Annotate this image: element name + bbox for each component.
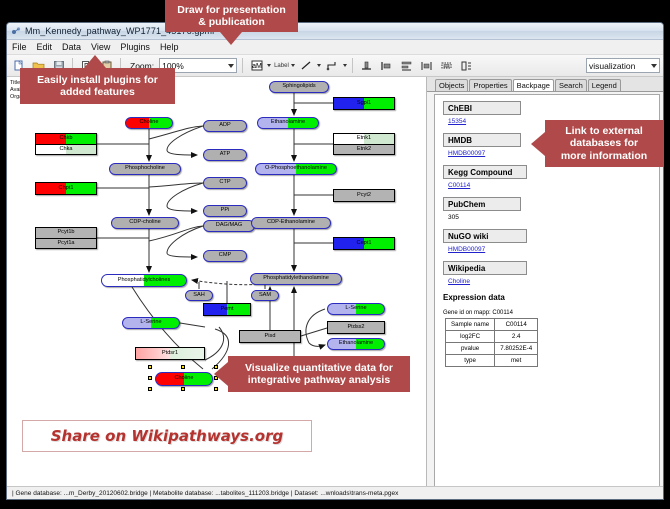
metabolite-label: Phosphatidylcholines — [118, 278, 171, 284]
stack-icon[interactable] — [458, 57, 475, 74]
resize-handle[interactable] — [181, 365, 185, 369]
callout-visualize-arrow-icon — [214, 362, 228, 386]
chevron-down-icon[interactable] — [267, 64, 271, 67]
expression-row: typemet — [446, 355, 538, 367]
tab-properties[interactable]: Properties — [469, 79, 511, 91]
share-banner-text: Share on Wikipathways.org — [51, 427, 283, 445]
metabolite-label: CTP — [219, 180, 230, 186]
callout-links-line1: Link to external — [565, 125, 643, 137]
db-link-wikipedia[interactable]: Choline — [448, 278, 659, 285]
chevron-down-icon[interactable] — [228, 64, 234, 68]
gene-label-row: Chkb — [36, 134, 96, 144]
menubar[interactable]: File Edit Data View Plugins Help — [7, 40, 663, 55]
gene-label-row: Pcyt1a — [36, 238, 96, 248]
menu-help[interactable]: Help — [159, 42, 180, 52]
menu-file[interactable]: File — [11, 42, 28, 52]
metabolite-node[interactable]: Ethanolamine — [257, 117, 319, 129]
metabolite-node[interactable]: CTP — [203, 177, 247, 189]
gene-label: Pcyt1b — [57, 230, 74, 236]
gene-node[interactable]: Pcyt1bPcyt1a — [35, 227, 97, 249]
metabolite-label: DAG/MAG — [216, 223, 242, 229]
metabolite-node[interactable]: Phosphatidylcholines — [101, 274, 187, 287]
side-panel-tabs[interactable]: ObjectsPropertiesBackpageSearchLegend — [427, 77, 663, 92]
gene-label-row: Ptdsr1 — [136, 348, 204, 359]
gene-node[interactable]: Pcyt2 — [333, 189, 395, 202]
gene-label-row: Chpt1 — [36, 183, 96, 194]
screenshot-root: Mm_Kennedy_pathway_WP1771_45176.gpml Fil… — [0, 0, 670, 509]
same-width-icon[interactable] — [418, 57, 435, 74]
resize-handle[interactable] — [214, 387, 218, 391]
metabolite-node[interactable]: CDP-Ethanolamine — [251, 217, 331, 229]
metabolite-node[interactable]: L-Serine — [122, 317, 180, 329]
gene-node[interactable]: ChkbChka — [35, 133, 97, 155]
gene-label-row: Pcyt1b — [36, 228, 96, 238]
db-header-kegg-compound: Kegg Compound — [443, 165, 527, 179]
label-tool-group[interactable]: Label — [274, 63, 295, 69]
align-top-icon[interactable] — [358, 57, 375, 74]
gene-label: Cept1 — [357, 241, 372, 247]
db-header-nugo-wiki: NuGO wiki — [443, 229, 527, 243]
resize-handle[interactable] — [181, 387, 185, 391]
metabolite-label: CMP — [219, 253, 231, 259]
metabolite-label: CDP-Ethanolamine — [267, 220, 315, 226]
gene-label: Etnk2 — [357, 147, 371, 153]
metabolite-node[interactable]: SAH — [185, 290, 213, 301]
menu-edit[interactable]: Edit — [36, 42, 54, 52]
chevron-down-icon[interactable] — [291, 64, 295, 67]
gene-node[interactable]: Etnk1Etnk2 — [333, 133, 395, 155]
metabolite-node[interactable]: ATP — [203, 149, 247, 161]
callout-links: Link to external databases for more info… — [545, 120, 663, 167]
callout-links-line2: databases for — [570, 137, 638, 149]
resize-handle[interactable] — [148, 376, 152, 380]
statusbar: | Gene database: ...m_Derby_20120602.bri… — [7, 486, 663, 499]
group-icon[interactable] — [438, 57, 455, 74]
gene-node[interactable]: Pisd — [239, 330, 301, 343]
gene-label-row: Pcyt2 — [334, 190, 394, 201]
metabolite-node[interactable]: Phosphatidylethanolamine — [250, 273, 342, 285]
gene-label: Ptdsr1 — [162, 351, 178, 357]
tab-search[interactable]: Search — [555, 79, 587, 91]
db-header-chebi: ChEBI — [443, 101, 521, 115]
gene-label: Pcyt1a — [57, 241, 74, 247]
visualization-value: visualization — [589, 61, 635, 71]
gene-label-row: Sgpl1 — [334, 98, 394, 109]
gene-label-row: Cept1 — [334, 238, 394, 249]
metabolite-node[interactable]: ADP — [203, 120, 247, 132]
gene-node[interactable]: Ptdss2 — [327, 321, 385, 334]
gene-label: Chkb — [59, 136, 72, 142]
distribute-vertical-icon[interactable] — [398, 57, 415, 74]
metabolite-label: O-Phosphoethanolamine — [265, 166, 327, 172]
db-link-nugo-wiki[interactable]: HMDB00097 — [448, 246, 659, 253]
metabolite-node[interactable]: Ethanolamine — [327, 338, 385, 350]
metabolite-node[interactable]: O-Phosphoethanolamine — [255, 163, 337, 175]
db-link-kegg-compound[interactable]: C00114 — [448, 182, 659, 189]
metabolite-label: ADP — [219, 123, 231, 129]
gene-node[interactable]: Pemt — [203, 303, 251, 316]
db-value-pubchem: 305 — [448, 214, 659, 221]
metabolite-label: SAM — [259, 293, 271, 299]
expression-key: pvalue — [446, 343, 495, 355]
gene-id-line: Gene id on mapp: C00114 — [443, 310, 659, 316]
tab-objects[interactable]: Objects — [435, 79, 468, 91]
callout-links-line3: more information — [561, 150, 647, 162]
expression-value: C00114 — [495, 319, 538, 331]
metabolite-label: CDP-choline — [129, 220, 160, 226]
callout-plugins-line2: added features — [60, 86, 135, 98]
metabolite-node[interactable]: CMP — [203, 250, 247, 262]
metabolite-label: ATP — [220, 152, 230, 158]
gene-node[interactable]: Ptdsr1 — [135, 347, 205, 360]
expression-key: type — [446, 355, 495, 367]
gene-label-row: Etnk1 — [334, 134, 394, 144]
share-banner: Share on Wikipathways.org — [22, 420, 312, 452]
expression-table: Sample nameC00114log2FC2.4pvalue7.80252E… — [445, 318, 538, 367]
metabolite-label: Sphingolipids — [282, 84, 315, 90]
gene-node[interactable]: Cept1 — [333, 237, 395, 250]
callout-draw-line1: Draw for presentation — [177, 4, 286, 16]
app-icon — [11, 26, 21, 36]
metabolite-node[interactable]: SAM — [251, 290, 279, 301]
gene-label-row: Ptdss2 — [328, 322, 384, 333]
expression-value: 2.4 — [495, 331, 538, 343]
metabolite-label: Ethanolamine — [271, 120, 305, 126]
metabolite-label: SAH — [193, 293, 205, 299]
window-titlebar: Mm_Kennedy_pathway_WP1771_45176.gpml — [7, 23, 663, 40]
menu-plugins[interactable]: Plugins — [119, 42, 151, 52]
text-tool-group[interactable]: aM — [248, 57, 271, 74]
expression-row: Sample nameC00114 — [446, 319, 538, 331]
metabolite-node[interactable]: Choline — [155, 372, 213, 386]
callout-visualize-line1: Visualize quantitative data for — [245, 362, 393, 374]
callout-draw: Draw for presentation & publication — [165, 0, 298, 32]
gene-label: Pemt — [220, 307, 233, 313]
chevron-down-icon[interactable] — [317, 64, 321, 67]
connector-tool-icon[interactable] — [324, 57, 341, 74]
metabolite-node[interactable]: Choline — [125, 117, 173, 129]
callout-links-arrow-icon — [531, 132, 545, 156]
metabolite-node[interactable]: Sphingolipids — [269, 81, 329, 93]
metabolite-label: Phosphatidylethanolamine — [263, 276, 329, 282]
metabolite-label: Phosphocholine — [125, 166, 165, 172]
metabolite-label: L-Serine — [345, 306, 366, 312]
callout-plugins-arrow-icon — [84, 55, 106, 68]
metabolite-label: Choline — [140, 120, 159, 126]
line-tool-icon[interactable] — [298, 57, 315, 74]
metabolite-label: L-Serine — [140, 320, 161, 326]
align-left-icon[interactable] — [378, 57, 395, 74]
metabolite-node[interactable]: CDP-choline — [111, 217, 179, 229]
callout-draw-arrow-icon — [220, 32, 242, 45]
metabolite-label: Choline — [175, 376, 194, 382]
gene-label: Pcyt2 — [357, 193, 371, 199]
gene-label: Sgpl1 — [357, 101, 371, 107]
callout-visualize: Visualize quantitative data for integrat… — [228, 356, 410, 392]
chevron-down-icon[interactable] — [651, 64, 657, 68]
expression-row: pvalue7.80252E-4 — [446, 343, 538, 355]
toolbar-separator — [352, 58, 353, 73]
expression-key: log2FC — [446, 331, 495, 343]
gene-label: Pisd — [265, 334, 276, 340]
menu-view[interactable]: View — [90, 42, 111, 52]
callout-draw-line2: & publication — [198, 16, 265, 28]
gene-label-row: Chka — [36, 144, 96, 154]
expression-row: log2FC2.4 — [446, 331, 538, 343]
text-tool-icon[interactable]: aM — [248, 57, 265, 74]
line-tool-group[interactable] — [298, 57, 321, 74]
connector-tool-group[interactable] — [324, 57, 347, 74]
chevron-down-icon[interactable] — [343, 64, 347, 67]
label-tool-label: Label — [274, 63, 289, 69]
gene-label: Chpt1 — [59, 186, 74, 192]
toolbar-separator — [242, 58, 243, 73]
metabolite-label: PPi — [221, 208, 230, 214]
tab-backpage[interactable]: Backpage — [513, 79, 554, 91]
db-header-hmdb: HMDB — [443, 133, 521, 147]
metabolite-node[interactable]: PPi — [203, 205, 247, 217]
expression-value: met — [495, 355, 538, 367]
db-header-wikipedia: Wikipedia — [443, 261, 527, 275]
expression-key: Sample name — [446, 319, 495, 331]
svg-text:aM: aM — [252, 63, 262, 70]
statusbar-text: | Gene database: ...m_Derby_20120602.bri… — [12, 490, 398, 497]
expression-value: 7.80252E-4 — [495, 343, 538, 355]
callout-visualize-line2: integrative pathway analysis — [248, 374, 390, 386]
metabolite-label: Ethanolamine — [339, 341, 373, 347]
gene-node[interactable]: Chpt1 — [35, 182, 97, 195]
expression-data-heading: Expression data — [443, 293, 659, 302]
metabolite-node[interactable]: DAG/MAG — [203, 220, 255, 232]
metabolite-node[interactable]: L-Serine — [327, 303, 385, 315]
metabolite-node[interactable]: Phosphocholine — [109, 163, 181, 175]
tab-legend[interactable]: Legend — [588, 79, 621, 91]
gene-label: Chka — [59, 147, 72, 153]
menu-data[interactable]: Data — [61, 42, 82, 52]
gene-label: Etnk1 — [357, 136, 371, 142]
gene-label-row: Etnk2 — [334, 144, 394, 154]
gene-node[interactable]: Sgpl1 — [333, 97, 395, 110]
gene-label-row: Pisd — [240, 331, 300, 342]
callout-plugins: Easily install plugins for added feature… — [20, 68, 175, 104]
resize-handle[interactable] — [148, 387, 152, 391]
db-header-pubchem: PubChem — [443, 197, 521, 211]
gene-label-row: Pemt — [204, 304, 250, 315]
visualization-combobox[interactable]: visualization — [586, 58, 660, 73]
resize-handle[interactable] — [148, 365, 152, 369]
gene-label: Ptdss2 — [347, 325, 364, 331]
callout-plugins-line1: Easily install plugins for — [37, 74, 158, 86]
